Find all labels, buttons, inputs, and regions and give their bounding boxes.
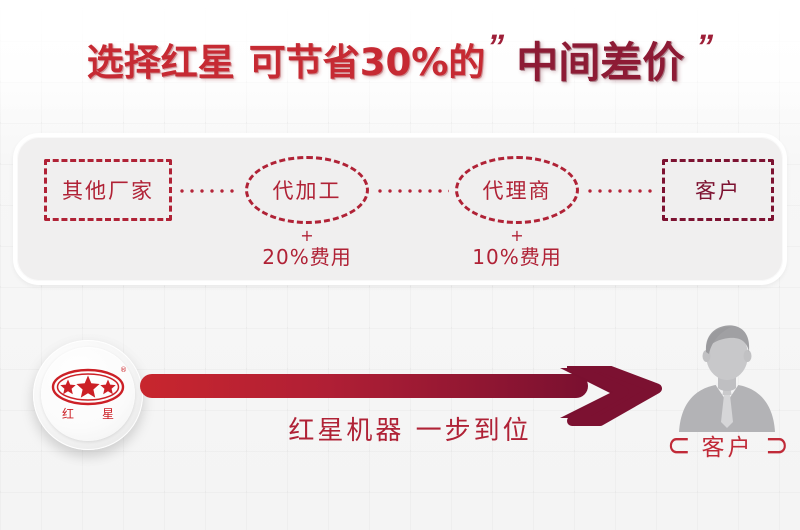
fee-amount: 20%费用	[227, 244, 387, 270]
hongxing-logo-mark: ® 红 星	[48, 363, 128, 425]
title-part2: 可节省30%的	[249, 32, 486, 86]
flow-node-oem-processing: 代加工	[245, 156, 369, 224]
flow-connector-2	[375, 189, 449, 193]
hongxing-logo-badge: ® 红 星	[33, 340, 143, 450]
flow-node-label: 代加工	[273, 175, 342, 205]
flow-node-label: 其他厂家	[62, 175, 154, 205]
fee-annotation-agent: + 10%费用	[437, 227, 597, 270]
logo-inner-disc: ® 红 星	[41, 347, 135, 441]
customer-label-group: ⊂ 客户 ⊃	[645, 428, 800, 462]
fee-annotation-oem: + 20%费用	[227, 227, 387, 270]
arrow-slogan-text: 红星机器 一步到位	[200, 410, 620, 447]
flow-diagram: 其他厂家 代加工 代理商 客户 + 20%费用 + 10%费用	[17, 137, 783, 281]
middleman-flow-panel: 其他厂家 代加工 代理商 客户 + 20%费用 + 10%费用	[13, 133, 787, 285]
flow-connector-3	[585, 189, 657, 193]
logo-brand-char-right: 星	[102, 405, 114, 422]
title-highlight: 中间差价	[516, 29, 684, 90]
page-title: 选择红星 可节省30%的 ” 中间差价 ”	[0, 28, 800, 90]
customer-silhouette	[671, 322, 783, 432]
customer-label-text: 客户	[702, 428, 754, 462]
poster-canvas: 选择红星 可节省30%的 ” 中间差价 ” 其他厂家 代加工 代理商 客户	[0, 0, 800, 530]
fee-plus-sign: +	[227, 227, 387, 244]
businessman-avatar-icon	[671, 322, 783, 432]
title-part1: 选择红星	[87, 32, 235, 86]
fee-plus-sign: +	[437, 227, 597, 244]
flow-node-label: 客户	[695, 175, 741, 205]
logo-brand-char-left: 红	[62, 405, 74, 422]
fee-amount: 10%费用	[437, 244, 597, 270]
flow-node-agent: 代理商	[455, 156, 579, 224]
logo-brand-text: 红 星	[48, 405, 128, 422]
flow-connector-1	[177, 189, 239, 193]
flow-node-other-factory: 其他厂家	[44, 159, 172, 221]
quote-open-icon: ”	[483, 28, 506, 67]
flow-node-customer: 客户	[662, 159, 774, 221]
flow-node-label: 代理商	[483, 175, 552, 205]
bracket-left-icon: ⊂	[667, 430, 691, 460]
quote-close-icon: ”	[692, 28, 715, 67]
bracket-right-icon: ⊃	[765, 430, 789, 460]
registered-mark-icon: ®	[120, 366, 127, 374]
